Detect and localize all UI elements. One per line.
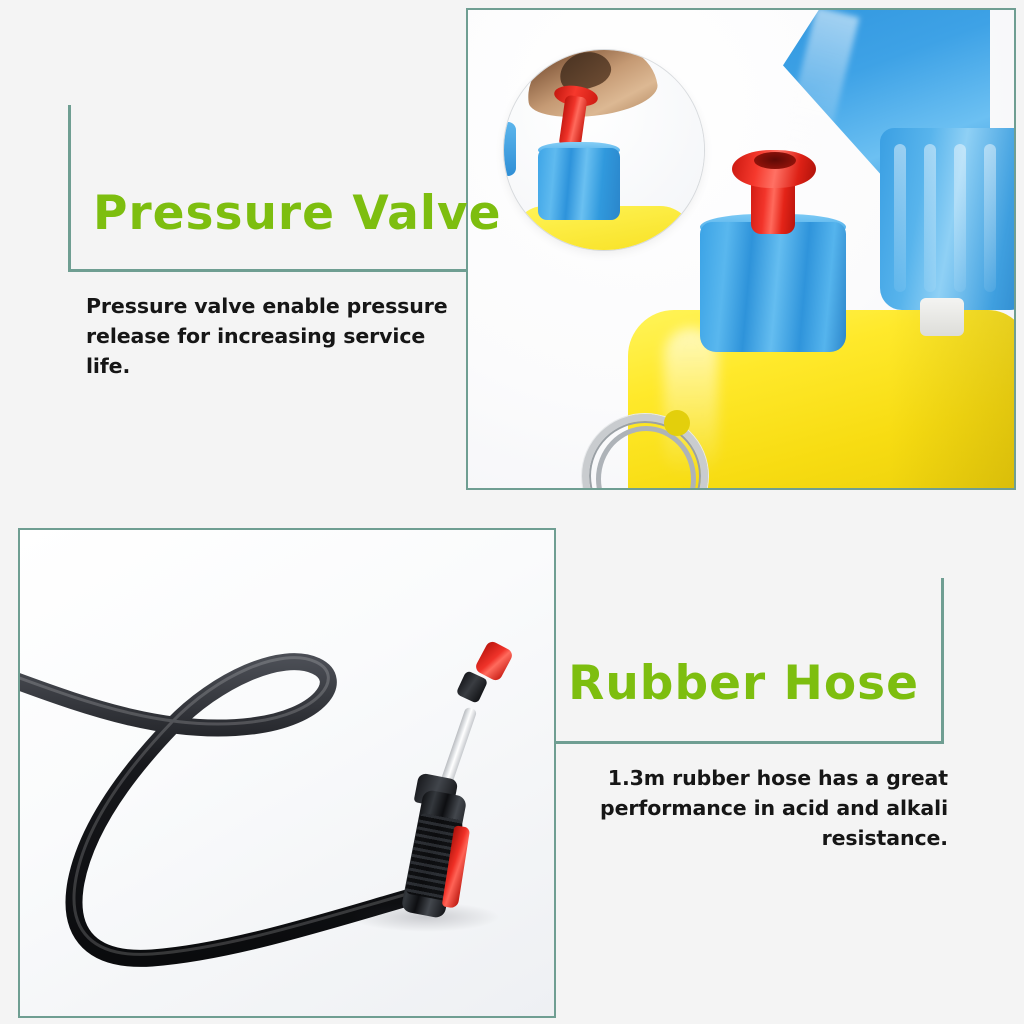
inset-blue-cap	[538, 148, 620, 220]
pressure-valve-title: Pressure Valve	[93, 186, 501, 241]
pressure-valve-description: Pressure valve enable pressure release f…	[86, 291, 466, 381]
blue-ribbed-cap	[700, 222, 846, 352]
pressure-valve-title-block: Pressure Valve	[68, 105, 468, 272]
collar-rib	[894, 144, 906, 292]
tank-stub	[920, 298, 964, 336]
tank-shading	[888, 310, 1016, 490]
rubber-hose-description: 1.3m rubber hose has a great performance…	[568, 763, 948, 853]
magnifier-inset	[504, 50, 704, 250]
rubber-hose-title-block: Rubber Hose	[556, 578, 944, 744]
collar-rib	[924, 144, 936, 292]
red-valve-opening	[754, 152, 796, 169]
pressure-valve-photo-panel	[466, 8, 1016, 490]
blue-tank-collar	[880, 128, 1016, 310]
rubber-hose-title: Rubber Hose	[568, 656, 919, 711]
collar-rib	[984, 144, 996, 292]
collar-rib	[954, 144, 966, 292]
rubber-hose-photo-panel	[18, 528, 556, 1018]
inset-blue-edge	[504, 122, 516, 176]
pressure-valve-photo	[468, 10, 1014, 488]
infographic-page: Pressure Valve Pressure valve enable pre…	[0, 0, 1024, 1024]
ring-anchor	[664, 410, 690, 436]
rubber-hose-photo	[20, 530, 554, 1016]
rubber-hose-shape	[20, 530, 554, 1016]
